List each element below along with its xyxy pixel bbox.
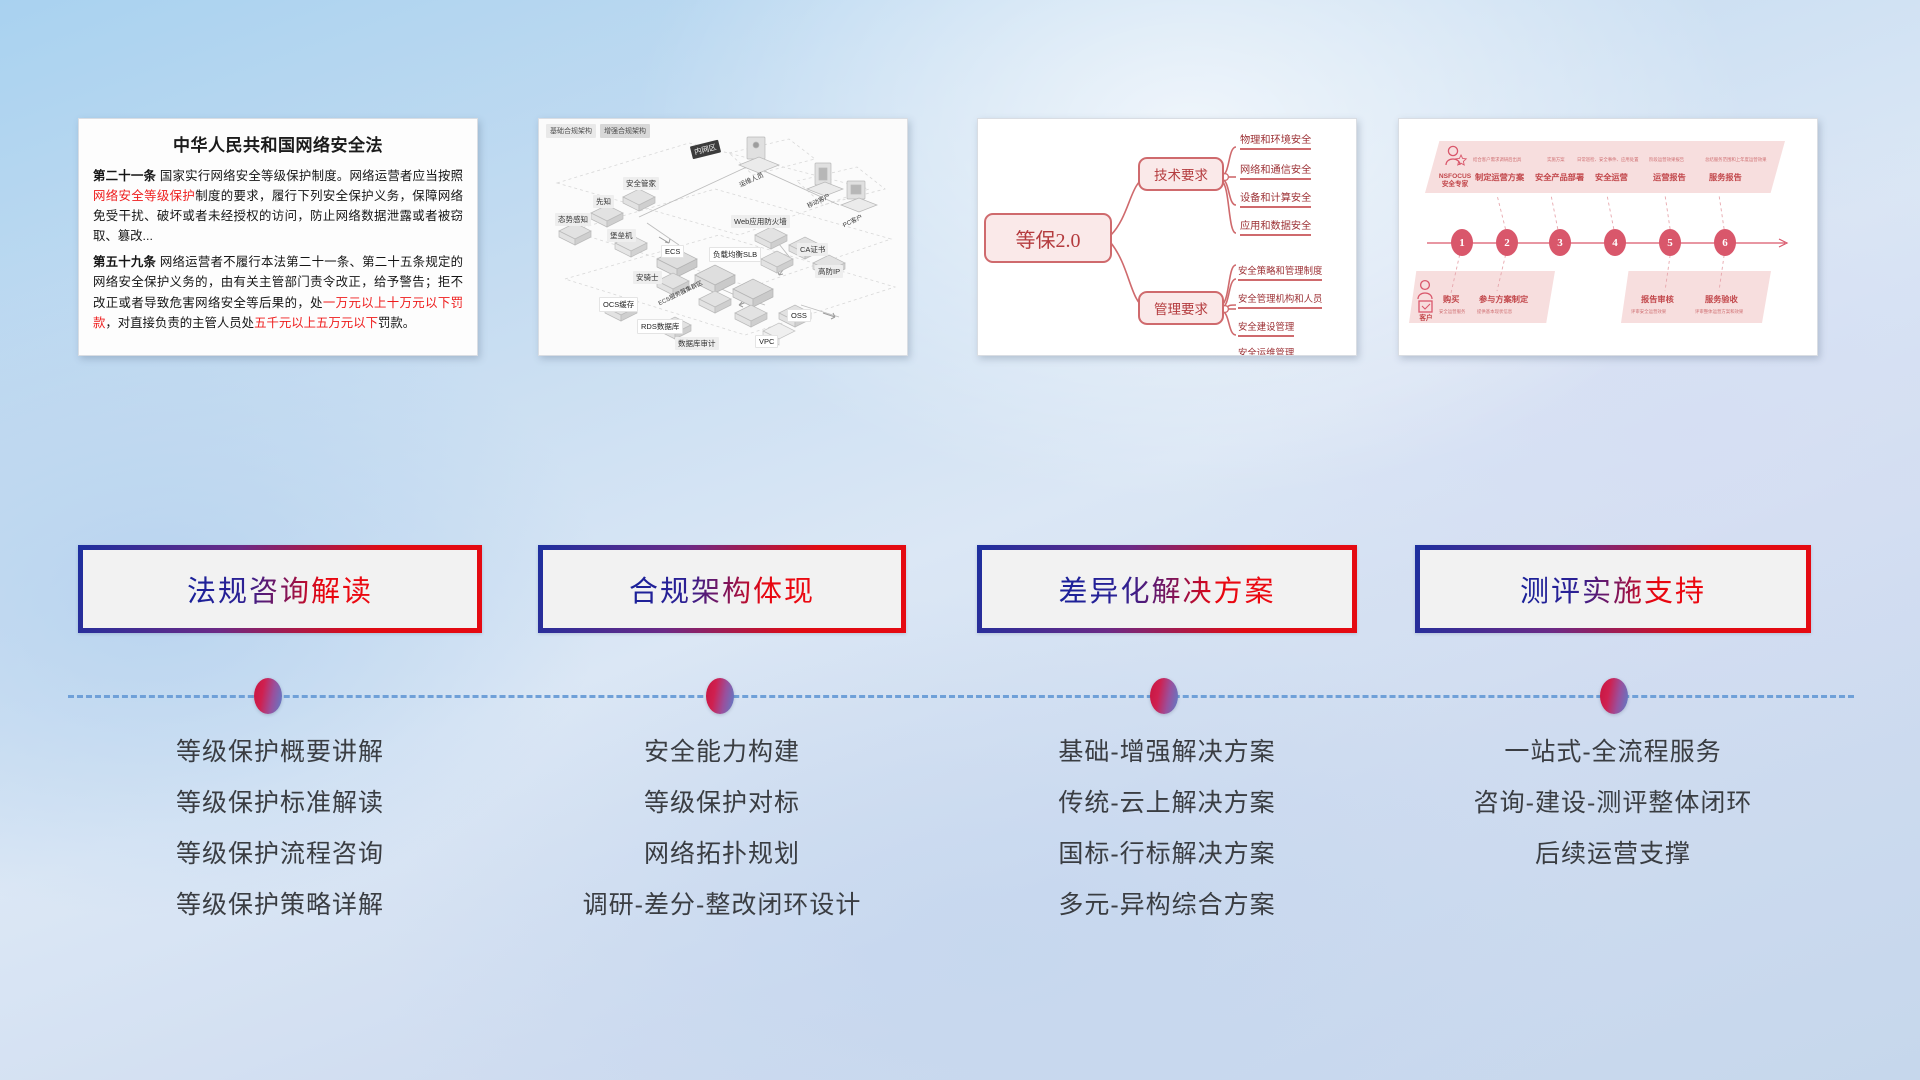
rail-pin-1[interactable] — [254, 678, 282, 714]
list-item: 等级保护概要讲解 — [78, 740, 482, 765]
law-article-21: 第二十一条 国家实行网络安全等级保护制度。网络运营者应当按照网络安全等级保护制度… — [93, 166, 463, 246]
law-article-59: 第五十九条 网络运营者不履行本法第二十一条、第二十五条规定的网络安全保护义务的，… — [93, 252, 463, 332]
article-59-highlight-2: 五千元以上五万元以下 — [254, 316, 378, 330]
mindmap-branch-technical[interactable]: 技术要求 — [1138, 157, 1224, 191]
rail-pin-2[interactable] — [706, 678, 734, 714]
list-item: 等级保护策略详解 — [78, 893, 482, 918]
node-xianzhi: 先知 — [593, 195, 614, 208]
list-item: 等级保护流程咨询 — [78, 842, 482, 867]
list-item: 等级保护对标 — [538, 791, 906, 816]
detail-list-row: 等级保护概要讲解 等级保护标准解读 等级保护流程咨询 等级保护策略详解 安全能力… — [0, 740, 1920, 970]
screenshot-card-row: 中华人民共和国网络安全法 第二十一条 国家实行网络安全等级保护制度。网络运营者应… — [0, 118, 1920, 368]
vendor-step-4-sub: 日常巡检、安全事件、应用处置 — [1577, 157, 1638, 163]
list-item: 后续运营支撑 — [1415, 842, 1811, 867]
architecture-wireframe — [539, 119, 908, 356]
vendor-step-5-sub: 阶段运营效果报告 — [1649, 157, 1684, 163]
node-vpc: VPC — [755, 335, 778, 348]
customer-step-3-title: 报告审核 — [1641, 293, 1674, 305]
headline-label-2: 合规架构体现 — [629, 568, 815, 610]
detail-column-2: 安全能力构建 等级保护对标 网络拓扑规划 调研-差分-整改闭环设计 — [538, 740, 906, 944]
timeline-step-4-marker[interactable]: 4 — [1604, 229, 1626, 256]
article-59-label: 第五十九条 — [93, 255, 156, 269]
mindmap-leaf-construction-mgmt: 安全建设管理 — [1238, 319, 1294, 337]
customer-step-1-title: 购买 — [1443, 293, 1459, 305]
node-db-audit: 数据库审计 — [675, 337, 719, 350]
headline-box-regulation-consulting[interactable]: 法规咨询解读 — [78, 545, 482, 633]
vendor-step-6-title: 服务报告 — [1709, 171, 1742, 183]
customer-step-4-title: 服务验收 — [1705, 293, 1738, 305]
vendor-step-3-title: 安全产品部署 — [1535, 171, 1584, 183]
customer-step-2-title: 参与方案制定 — [1479, 293, 1528, 305]
mindmap-leaf-policy-system: 安全策略和管理制度 — [1238, 263, 1322, 281]
list-item: 基础-增强解决方案 — [977, 740, 1357, 765]
mindmap-canvas: 等保2.0 技术要求 物理和环境安全 网络和通信安全 设备和计算安全 应用和数据… — [978, 119, 1356, 355]
mindmap-leaf-device-compute: 设备和计算安全 — [1240, 189, 1311, 208]
mindmap-leaf-network-comm: 网络和通信安全 — [1240, 161, 1311, 180]
card-service-timeline[interactable]: NSFOCUS 安全专家 客户 结合客户需求调研后出具 制定运营方案 实施方案 … — [1398, 118, 1818, 356]
article-59-text-b: ，对直接负责的主管人员处 — [105, 316, 254, 330]
timeline-step-2-marker[interactable]: 2 — [1496, 229, 1518, 256]
mindmap-leaf-ops-mgmt: 安全运维管理 — [1238, 345, 1294, 356]
node-ecs: ECS — [661, 245, 684, 258]
timeline-step-1-marker[interactable]: 1 — [1451, 229, 1473, 256]
list-item: 一站式-全流程服务 — [1415, 740, 1811, 765]
timeline-step-3-marker[interactable]: 3 — [1549, 229, 1571, 256]
detail-column-3: 基础-增强解决方案 传统-云上解决方案 国标-行标解决方案 多元-异构综合方案 — [977, 740, 1357, 944]
list-item: 安全能力构建 — [538, 740, 906, 765]
mindmap-leaf-app-data: 应用和数据安全 — [1240, 217, 1311, 236]
card-cloud-architecture[interactable]: 基础合规架构 增强合规架构 — [538, 118, 908, 356]
article-21-label: 第二十一条 — [93, 169, 156, 183]
vendor-role-line2: 安全专家 — [1442, 181, 1468, 188]
headline-label-3: 差异化解决方案 — [1058, 568, 1275, 610]
vendor-step-5-title: 运营报告 — [1653, 171, 1686, 183]
customer-step-3-sub: 评审安全运营效果 — [1631, 309, 1666, 315]
detail-column-4: 一站式-全流程服务 咨询-建设-测评整体闭环 后续运营支撑 — [1415, 740, 1811, 893]
timeline-step-6-marker[interactable]: 6 — [1714, 229, 1736, 256]
node-situational-awareness: 态势感知 — [555, 213, 591, 226]
list-item: 多元-异构综合方案 — [977, 893, 1357, 918]
vendor-step-2-sub: 结合客户需求调研后出具 — [1473, 157, 1521, 163]
article-59-text-c: 罚款。 — [378, 316, 415, 330]
timeline-canvas: NSFOCUS 安全专家 客户 结合客户需求调研后出具 制定运营方案 实施方案 … — [1399, 119, 1817, 355]
card-cybersecurity-law[interactable]: 中华人民共和国网络安全法 第二十一条 国家实行网络安全等级保护制度。网络运营者应… — [78, 118, 478, 356]
article-21-text-a: 国家实行网络安全等级保护制度。网络运营者应当按照 — [156, 169, 463, 183]
node-anti-ddos-ip: 高防IP — [815, 265, 843, 278]
expert-person-icon — [1446, 146, 1466, 165]
headline-box-assessment-support[interactable]: 测评实施支持 — [1415, 545, 1811, 633]
card-dengbao-mindmap[interactable]: 等保2.0 技术要求 物理和环境安全 网络和通信安全 设备和计算安全 应用和数据… — [977, 118, 1357, 356]
vendor-step-6-sub: 总结服务范围和上年度运营效果 — [1705, 157, 1766, 163]
customer-person-icon — [1418, 281, 1432, 312]
node-oss: OSS — [787, 309, 811, 322]
node-security-steward: 安全管家 — [623, 177, 659, 190]
list-item: 国标-行标解决方案 — [977, 842, 1357, 867]
law-text-body: 中华人民共和国网络安全法 第二十一条 国家实行网络安全等级保护制度。网络运营者应… — [79, 119, 477, 347]
list-item: 调研-差分-整改闭环设计 — [538, 893, 906, 918]
list-item: 等级保护标准解读 — [78, 791, 482, 816]
mindmap-leaf-org-personnel: 安全管理机构和人员 — [1238, 291, 1322, 309]
customer-step-2-sub: 提供基本现状信息 — [1477, 309, 1512, 315]
headline-label-4: 测评实施支持 — [1520, 568, 1706, 610]
vendor-role-line1: NSFOCUS — [1439, 173, 1471, 180]
customer-step-4-sub: 评审整体运营方案和效果 — [1695, 309, 1743, 315]
timeline-rail — [68, 695, 1854, 698]
rail-pin-3[interactable] — [1150, 678, 1178, 714]
article-21-highlight: 网络安全等级保护 — [93, 189, 195, 203]
vendor-step-4-title: 安全运营 — [1595, 171, 1628, 183]
node-rds-database: RDS数据库 — [637, 319, 683, 334]
headline-box-compliance-architecture[interactable]: 合规架构体现 — [538, 545, 906, 633]
mindmap-leaf-physical-env: 物理和环境安全 — [1240, 131, 1311, 150]
list-item: 网络拓扑规划 — [538, 842, 906, 867]
architecture-diagram: 基础合规架构 增强合规架构 — [539, 119, 907, 355]
headline-label-1: 法规咨询解读 — [187, 568, 373, 610]
detail-column-1: 等级保护概要讲解 等级保护标准解读 等级保护流程咨询 等级保护策略详解 — [78, 740, 482, 944]
node-waf: Web应用防火墙 — [731, 215, 790, 228]
customer-step-1-sub: 安全运营服务 — [1439, 309, 1465, 315]
mindmap-root-node[interactable]: 等保2.0 — [984, 213, 1112, 263]
list-item: 传统-云上解决方案 — [977, 791, 1357, 816]
mindmap-branch-management[interactable]: 管理要求 — [1138, 291, 1224, 325]
timeline-step-5-marker[interactable]: 5 — [1659, 229, 1681, 256]
list-item: 咨询-建设-测评整体闭环 — [1415, 791, 1811, 816]
node-ocs-cache: OCS缓存 — [599, 297, 638, 312]
headline-box-differentiated-solution[interactable]: 差异化解决方案 — [977, 545, 1357, 633]
node-bastion-host: 堡垒机 — [607, 229, 636, 242]
node-ca-certificate: CA证书 — [797, 243, 828, 256]
customer-role-label: 客户 — [1411, 315, 1441, 323]
rail-pin-4[interactable] — [1600, 678, 1628, 714]
headline-row: 法规咨询解读 合规架构体现 差异化解决方案 测评实施支持 — [0, 545, 1920, 643]
vendor-step-2-title: 制定运营方案 — [1475, 171, 1524, 183]
node-slb: 负载均衡SLB — [709, 247, 761, 262]
law-title: 中华人民共和国网络安全法 — [93, 131, 463, 156]
vendor-step-3-sub: 实施方案 — [1547, 157, 1565, 163]
node-anqishi: 安骑士 — [633, 271, 662, 284]
